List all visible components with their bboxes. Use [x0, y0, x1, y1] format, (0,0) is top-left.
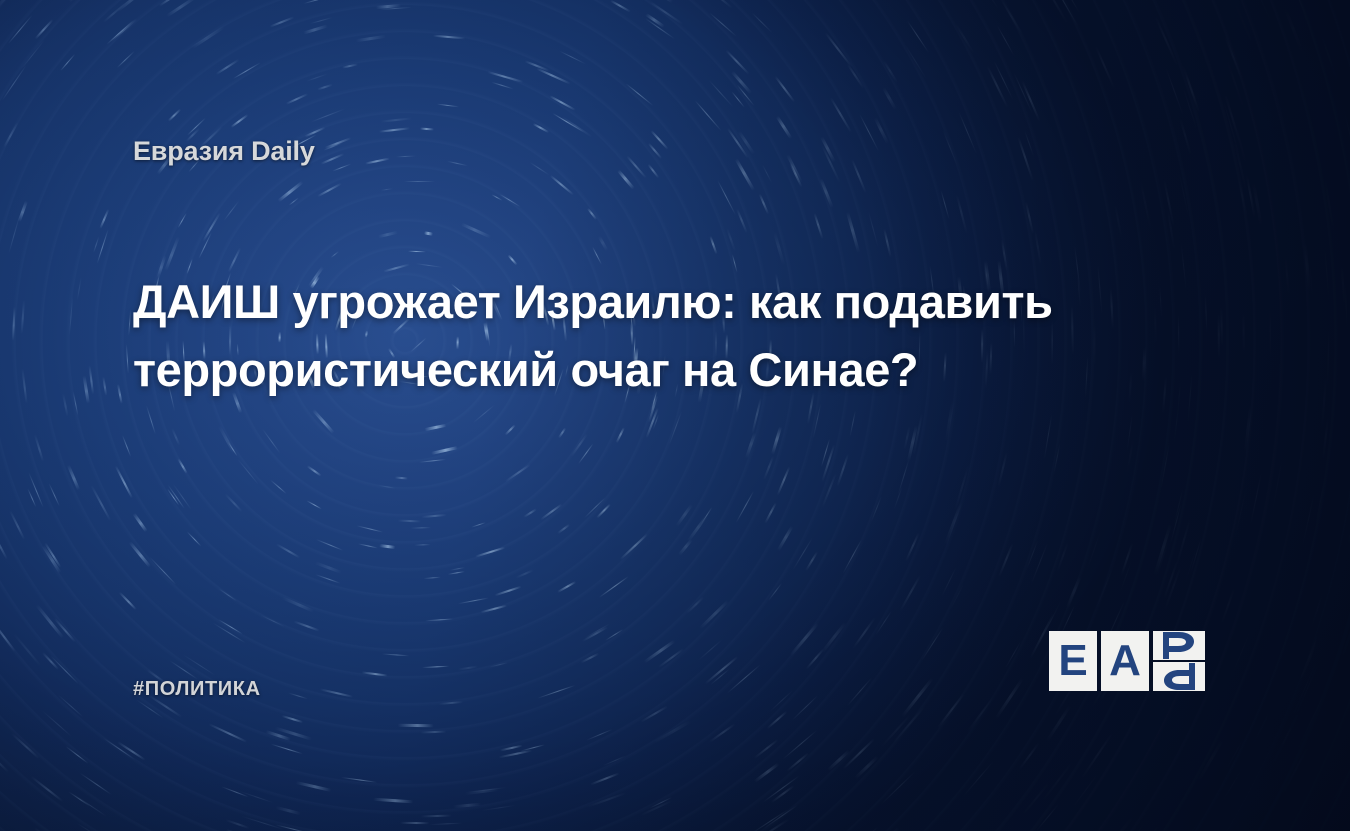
logo-tile-a: A — [1101, 631, 1149, 691]
logo-letter-a: A — [1101, 631, 1149, 691]
category-tag[interactable]: #ПОЛИТИКА — [133, 678, 261, 701]
eadaily-logo[interactable]: E A — [1049, 631, 1221, 691]
background-star-streaks — [0, 0, 1350, 831]
page-title: ДАИШ угрожает Израилю: как подавить терр… — [133, 268, 1243, 404]
article-cover-card: Евразия Daily ДАИШ угрожает Израилю: как… — [0, 0, 1350, 831]
logo-letter-e: E — [1049, 631, 1097, 691]
logo-letter-d-top — [1153, 631, 1205, 660]
letter-d-upper-icon — [1153, 631, 1205, 660]
background-star-trail-rings — [0, 0, 1350, 831]
logo-tile-e: E — [1049, 631, 1097, 691]
brand-name: Евразия Daily — [133, 136, 315, 167]
logo-letter-d-bottom — [1153, 662, 1205, 691]
background-vignette — [0, 0, 1350, 831]
logo-tile-d-stack — [1153, 631, 1205, 691]
background-sky-gradient — [0, 0, 1350, 831]
letter-d-lower-icon — [1153, 662, 1205, 691]
